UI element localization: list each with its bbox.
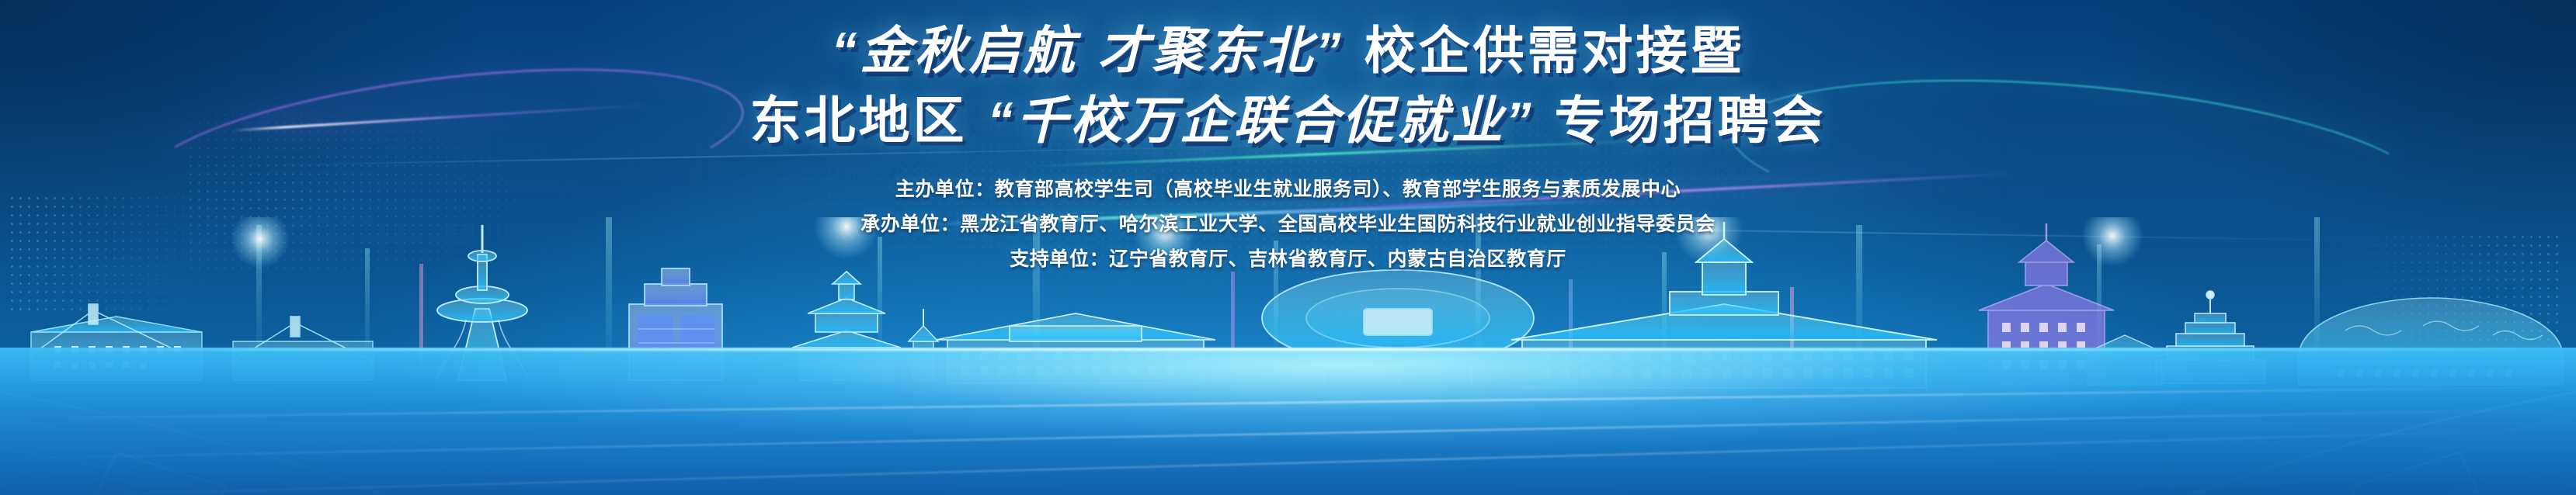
- event-banner: “金秋启航才聚东北”校企供需对接暨 东北地区“千校万企联合促就业”专场招聘会 主…: [0, 0, 2576, 495]
- event-title-line-2: 东北地区“千校万企联合促就业”专场招聘会: [750, 95, 1827, 146]
- title-line2-highlight: 千校万企联合促就业: [1017, 92, 1506, 149]
- title-line2-quote-close: ”: [1506, 92, 1535, 149]
- event-title-line-1: “金秋启航才聚东北”校企供需对接暨: [832, 25, 1745, 76]
- banner-content: “金秋启航才聚东北”校企供需对接暨 东北地区“千校万企联合促就业”专场招聘会 主…: [0, 0, 2576, 495]
- title-line1-quote-close: ”: [1316, 22, 1344, 79]
- title-line2-rest: 专场招聘会: [1555, 92, 1827, 149]
- title-line1-highlight-a: 金秋启航: [860, 22, 1078, 79]
- title-line1-highlight-b: 才聚东北: [1098, 22, 1316, 79]
- title-line1-quote-open: “: [832, 22, 860, 79]
- organizer-line-host: 主办单位：教育部高校学生司（高校毕业生就业服务司）、教育部学生服务与素质发展中心: [895, 174, 1681, 202]
- title-line2-quote-open: “: [988, 92, 1017, 149]
- organizer-line-supporter: 支持单位：辽宁省教育厅、吉林省教育厅、内蒙古自治区教育厅: [1010, 244, 1566, 272]
- title-line2-prefix: 东北地区: [750, 92, 968, 149]
- title-line1-rest: 校企供需对接暨: [1364, 22, 1745, 79]
- organizer-line-undertaker: 承办单位：黑龙江省教育厅、哈尔滨工业大学、全国高校毕业生国防科技行业就业创业指导…: [860, 209, 1716, 237]
- organizer-info: 主办单位：教育部高校学生司（高校毕业生就业服务司）、教育部学生服务与素质发展中心…: [860, 174, 1716, 272]
